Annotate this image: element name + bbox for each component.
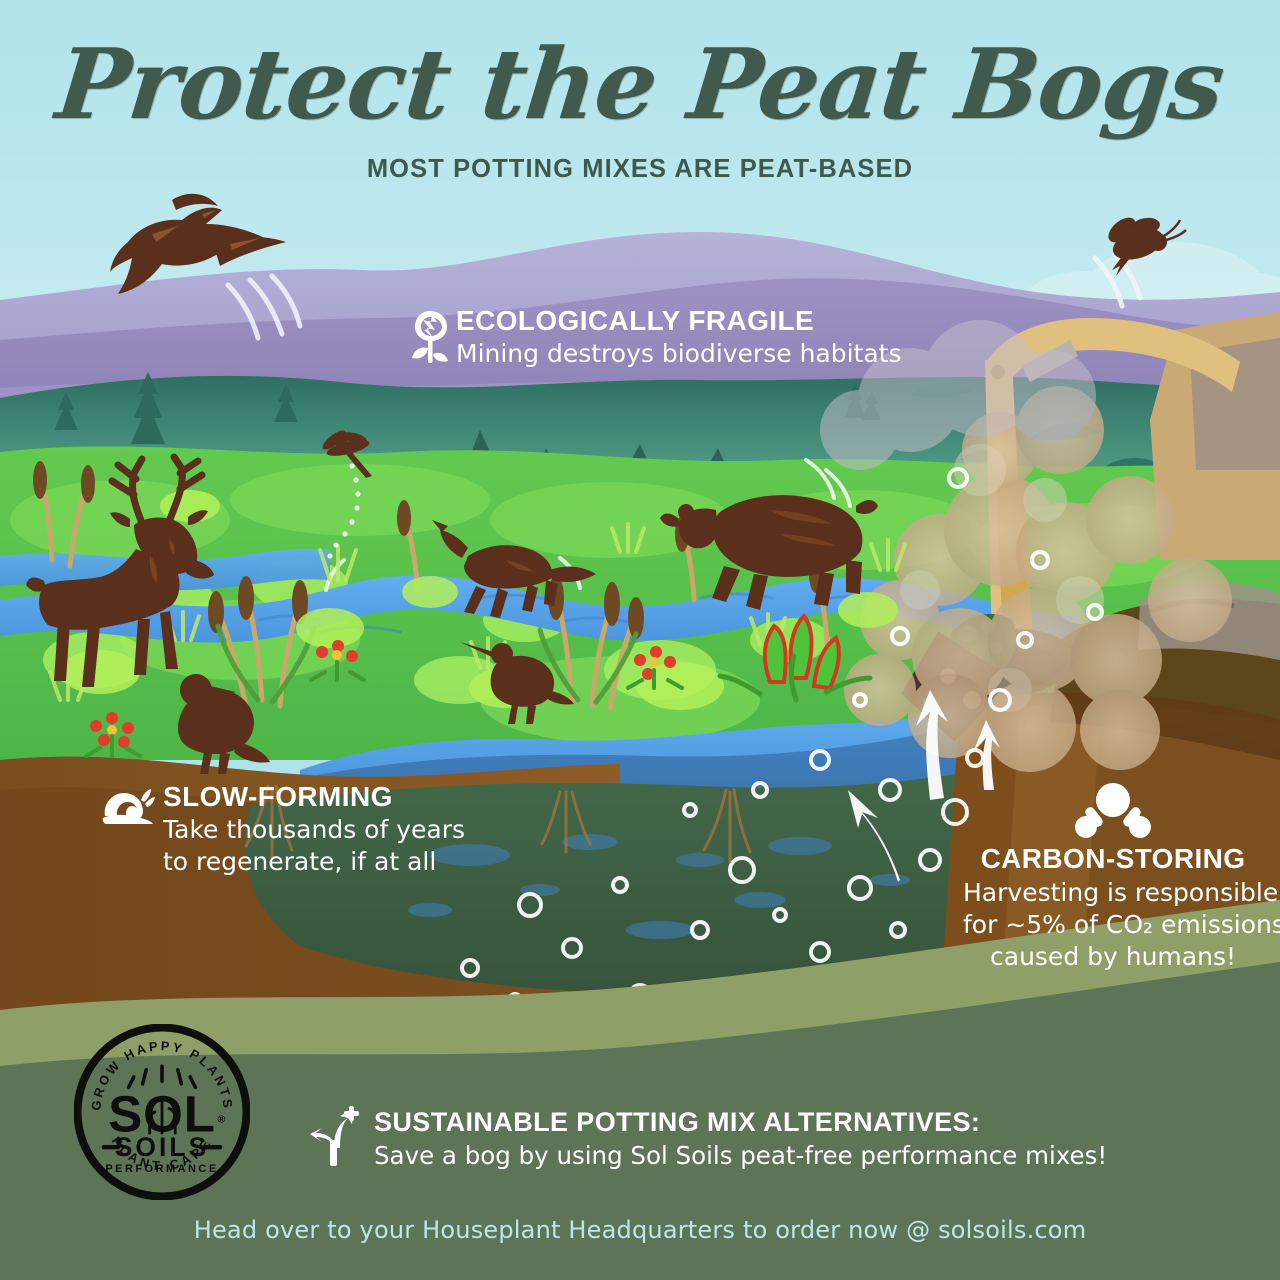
callout-line: Harvesting is responsible: [963, 877, 1263, 909]
callout-heading: SLOW-FORMING: [163, 782, 465, 811]
footer-text: Head over to your Houseplant Headquarter…: [0, 1216, 1280, 1244]
callout-line: for ~5% of CO₂ emissions: [963, 909, 1263, 941]
callout-body: Harvesting is responsible for ~5% of CO₂…: [963, 877, 1263, 972]
callout-ecologically-fragile: ECOLOGICALLY FRAGILE Mining destroys bio…: [410, 306, 902, 370]
callout-body: Take thousands of years to regenerate, i…: [163, 814, 465, 878]
callout-carbon-storing: CARBON-STORING Harvesting is responsible…: [963, 788, 1263, 973]
callout-line: Take thousands of years: [163, 814, 465, 846]
logo-performance-line: PERFORMANCE: [105, 1163, 218, 1175]
callout-body: Save a bog by using Sol Soils peat-free …: [374, 1140, 1107, 1171]
snail-icon: [101, 786, 155, 833]
logo-subword: SOILS: [115, 1132, 210, 1162]
page-title: Protect the Peat Bogs: [0, 34, 1280, 136]
callout-sustainable-alternatives: SUSTAINABLE POTTING MIX ALTERNATIVES: Sa…: [318, 1108, 1107, 1171]
logo-registered-mark: ®: [217, 1114, 225, 1126]
callout-body: Mining destroys biodiverse habitats: [456, 338, 902, 370]
callout-heading: SUSTAINABLE POTTING MIX ALTERNATIVES:: [374, 1108, 1107, 1136]
cracked-flower-icon: [410, 308, 450, 369]
callout-line: to regenerate, if at all: [163, 846, 465, 878]
callout-slow-forming: SLOW-FORMING Take thousands of years to …: [105, 782, 465, 878]
page-subtitle: MOST POTTING MIXES ARE PEAT-BASED: [0, 155, 1280, 184]
infographic-poster: Protect the Peat Bogs MOST POTTING MIXES…: [0, 0, 1280, 1280]
callout-line: caused by humans!: [963, 941, 1263, 973]
branching-arrow-icon: [310, 1106, 362, 1173]
callout-heading: ECOLOGICALLY FRAGILE: [456, 306, 902, 335]
callout-line: Mining destroys biodiverse habitats: [456, 338, 902, 370]
sol-soils-logo[interactable]: GROW HAPPY PLANTS PLANT CARE SOL ® SOILS: [74, 1024, 250, 1200]
callout-line: Save a bog by using Sol Soils peat-free …: [374, 1140, 1107, 1171]
co2-molecule-icon: [1071, 780, 1155, 849]
